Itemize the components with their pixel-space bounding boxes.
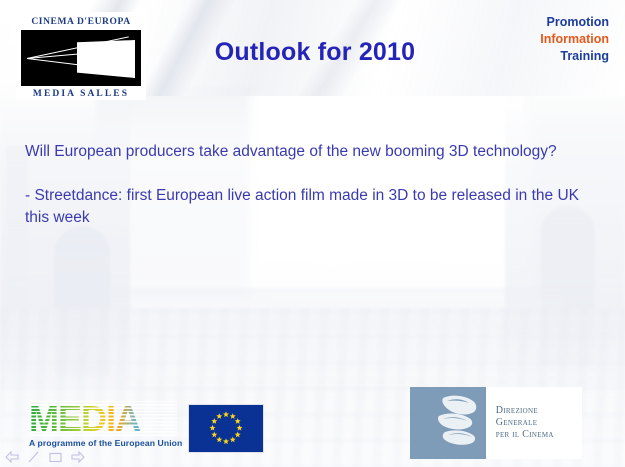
mibac-box: MiBAC: [410, 387, 486, 459]
logo-top-text: CINEMA D'EUROPA: [21, 16, 141, 28]
arrow-left-icon[interactable]: [5, 451, 19, 463]
european-union-flag-icon: [188, 404, 264, 453]
logo-bottom-text: MEDIA SALLES: [21, 88, 141, 100]
eu-stars-svg: [189, 405, 263, 452]
body-paragraph-streetdance: - Streetdance: first European live actio…: [25, 185, 605, 229]
arrow-right-icon[interactable]: [71, 451, 85, 463]
presentation-slide: CINEMA D'EUROPA MEDIA SALLES Outlook for…: [0, 0, 625, 467]
sculpture-relief-icon: [433, 392, 483, 454]
media-tagline: A programme of the European Union: [29, 438, 177, 448]
mibac-caption-line2: per il Cinema: [496, 429, 582, 441]
slideshow-nav-controls[interactable]: [5, 451, 85, 463]
body-paragraph-question: Will European producers take advantage o…: [25, 141, 605, 163]
media-wordmark: MEDIA: [29, 401, 177, 437]
slide-body: Will European producers take advantage o…: [25, 141, 605, 229]
label-information: Information: [540, 31, 609, 48]
mibac-caption-line1: Direzione Generale: [496, 405, 582, 429]
label-training: Training: [540, 48, 609, 65]
mibac-logo: MiBAC Direzione Generale: [410, 387, 582, 459]
slide-menu-icon[interactable]: [49, 452, 62, 463]
promotion-information-training-block: Promotion Information Training: [540, 14, 609, 65]
projector-beam-screen-icon: [21, 30, 141, 86]
label-promotion: Promotion: [540, 14, 609, 31]
pen-icon[interactable]: [28, 451, 40, 463]
media-programme-logo: MEDIA A programme of the European Union: [29, 401, 177, 449]
mibac-caption: Direzione Generale per il Cinema: [496, 405, 582, 441]
cinema-deuropa-logo: CINEMA D'EUROPA MEDIA SALLES: [16, 12, 146, 100]
page-title: Outlook for 2010: [160, 38, 470, 67]
mibac-vertical-text: MiBAC: [412, 387, 434, 391]
